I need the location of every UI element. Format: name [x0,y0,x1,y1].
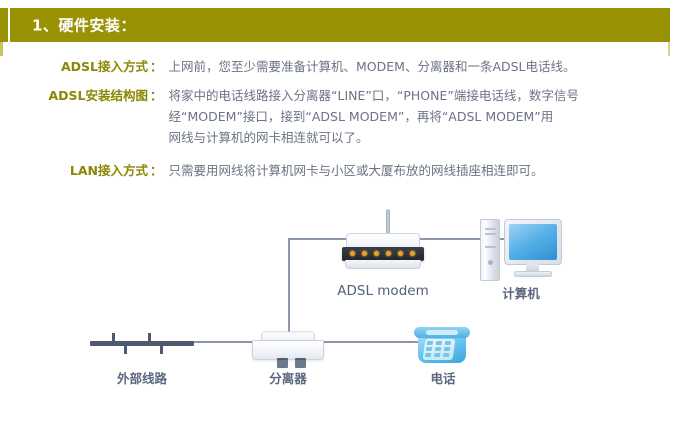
info-row-body: 将家中的电话线路接入分离器“LINE”口，“PHONE”端接电话线，数字信号 经… [169,85,678,148]
monitor-screen [509,224,557,260]
device-label-external-line: 外部线路 [90,368,194,387]
info-row-line: 网线与计算机的网卡相连就可以了。 [169,127,664,148]
info-row-lan-access: LAN接入方式 ： 只需要用网线将计算机网卡与小区或大厦布放的网线插座相连即可。 [0,160,678,181]
extline-tick [160,345,163,354]
device-label-splitter: 分离器 [236,368,340,387]
wire-riser-to-modem [288,238,346,240]
header-bar: 1、硬件安装： [10,8,670,42]
connection-diagram: 外部线路 分离器 电话 [0,205,678,420]
computer-monitor [504,219,562,265]
telephone-line-icon [90,333,194,355]
info-row-adsl-structure: ADSL安装结构图 ： 将家中的电话线路接入分离器“LINE”口，“PHONE”… [0,85,678,148]
router-led [374,251,379,256]
phone-key [435,347,442,351]
info-row-line: 经“MODEM”接口，接到“ADSL MODEM”，再将“ADSL MODEM”… [169,106,664,127]
computer-tower [480,219,500,281]
info-row-adsl-access: ADSL接入方式 ： 上网前，您至少需要准备计算机、MODEM、分离器和一条AD… [0,56,678,77]
phone-keypad [423,339,456,360]
info-row-colon: ： [148,160,169,181]
phone-key [425,353,432,357]
phone-handset [414,327,470,338]
tower-power-button [488,260,493,265]
phone-key [436,341,443,345]
splitter-port-phone [295,358,306,368]
info-row-line: 只需要用网线将计算机网卡与小区或大厦布放的网线插座相连即可。 [169,160,664,181]
info-row-body: 只需要用网线将计算机网卡与小区或大厦布放的网线插座相连即可。 [169,160,678,181]
phone-key [444,347,451,351]
desktop-computer-icon [478,217,564,285]
info-row-line: 将家中的电话线路接入分离器“LINE”口，“PHONE”端接电话线，数字信号 [169,85,664,106]
header-accent-bar [0,8,8,42]
instructions-block: ADSL接入方式 ： 上网前，您至少需要准备计算机、MODEM、分离器和一条AD… [0,56,678,189]
extline-bar [90,341,194,346]
phone-key [426,347,433,351]
splitter-port-line [277,358,288,368]
router-base [345,260,421,269]
tower-slot [485,233,496,235]
right-rule [668,42,670,56]
left-rule [0,42,3,56]
device-label-telephone: 电话 [391,368,495,387]
info-row-line: 上网前，您至少需要准备计算机、MODEM、分离器和一条ADSL电话线。 [169,56,664,77]
tower-slot [485,246,496,248]
phone-key [427,341,434,345]
device-label-computer: 计算机 [468,283,574,302]
router-led [410,251,415,256]
info-row-body: 上网前，您至少需要准备计算机、MODEM、分离器和一条ADSL电话线。 [169,56,678,77]
page-title: 1、硬件安装： [32,15,136,36]
wire-splitter-to-phone [315,341,421,343]
monitor-stand [514,271,552,277]
wire-splitter-riser [288,238,290,334]
phone-key [443,353,450,357]
extline-tick [124,345,127,354]
info-row-label: LAN接入方式 [0,160,148,181]
tower-slot [485,228,496,230]
phone-key [445,341,452,345]
section-header: 1、硬件安装： [0,8,670,42]
router-led [386,251,391,256]
router-antenna [386,209,390,235]
info-row-label: ADSL接入方式 [0,56,148,77]
router-led [350,251,355,256]
extline-tick [112,333,115,342]
router-icon [342,227,424,275]
info-row-colon: ： [148,56,169,77]
hardware-installation-page: 1、硬件安装： ADSL接入方式 ： 上网前，您至少需要准备计算机、MODEM、… [0,0,678,424]
splitter-body [252,340,324,360]
router-led [398,251,403,256]
info-row-colon: ： [148,85,169,106]
info-row-label: ADSL安装结构图 [0,85,148,106]
device-label-adsl-modem: ADSL modem [320,283,446,299]
extline-tick [148,333,151,342]
telephone-icon [412,323,474,369]
splitter-icon [252,331,324,361]
router-led [362,251,367,256]
router-port-strip [342,247,424,261]
phone-key [434,353,441,357]
